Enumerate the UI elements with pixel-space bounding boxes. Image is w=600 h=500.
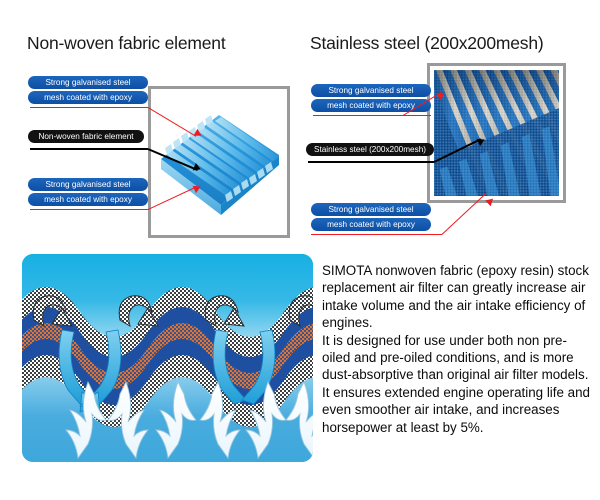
infographic-page: Non-woven fabric element Stainless steel… (0, 0, 600, 500)
mesh-photo-render (434, 70, 559, 196)
stainless-steel-mesh-photo (434, 70, 559, 196)
callout-left-top-line2: mesh coated with epoxy (28, 91, 148, 104)
callout-right-middle-label: Stainless steel (200x200mesh) (314, 145, 426, 154)
callout-right-top-line1: Strong galvanised steel (311, 84, 431, 97)
description-paragraph-1: SIMOTA nonwoven fabric (epoxy resin) sto… (322, 262, 594, 332)
callout-left-middle-label: Non-woven fabric element (38, 132, 133, 141)
callout-left-bottom: Strong galvanised steel mesh coated with… (28, 178, 148, 208)
product-description: SIMOTA nonwoven fabric (epoxy resin) sto… (322, 262, 594, 436)
leader-line-left-middle (30, 148, 148, 150)
page-title-left: Non-woven fabric element (27, 33, 226, 54)
airflow-illustration-panel (22, 254, 313, 462)
page-title-right: Stainless steel (200x200mesh) (310, 33, 544, 54)
callout-left-top-line1: Strong galvanised steel (28, 76, 148, 89)
callout-right-bottom: Strong galvanised steel mesh coated with… (311, 203, 431, 233)
leader-line-right-bottom (311, 234, 442, 235)
callout-right-bottom-line2: mesh coated with epoxy (311, 218, 431, 231)
callout-right-bottom-line1: Strong galvanised steel (311, 203, 431, 216)
leader-line-right-middle (308, 161, 434, 163)
leader-line-left-top (30, 107, 148, 108)
callout-left-middle: Non-woven fabric element (28, 130, 144, 143)
nonwoven-element-image-frame (148, 86, 290, 238)
callout-left-bottom-line1: Strong galvanised steel (28, 178, 148, 191)
stainless-steel-image-frame (427, 63, 566, 203)
leader-line-right-top (313, 115, 431, 116)
callout-left-top: Strong galvanised steel mesh coated with… (28, 76, 148, 106)
description-paragraph-2: It is designed for use under both non pr… (322, 332, 594, 436)
leader-line-left-bottom (30, 209, 148, 210)
airflow-diagram (22, 254, 313, 462)
callout-right-middle: Stainless steel (200x200mesh) (306, 143, 434, 156)
callout-left-bottom-line2: mesh coated with epoxy (28, 193, 148, 206)
pleated-filter-element-illustration (153, 97, 285, 227)
